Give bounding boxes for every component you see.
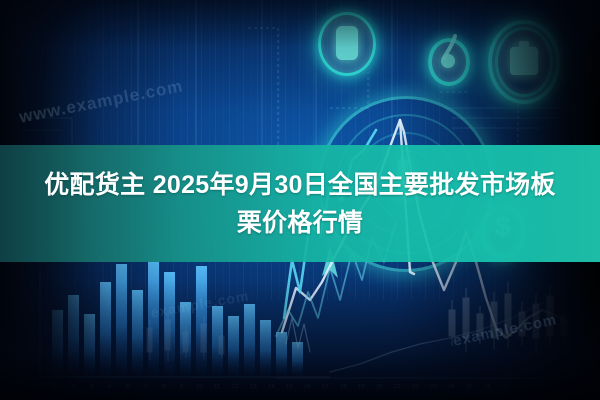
page-title-line-1: 优配货主 2025年9月30日全国主要批发市场板	[44, 167, 555, 203]
banner-image: $	[0, 0, 600, 400]
page-title-line-2: 栗价格行情	[237, 205, 364, 241]
title-block: 优配货主 2025年9月30日全国主要批发市场板 栗价格行情	[0, 145, 600, 262]
